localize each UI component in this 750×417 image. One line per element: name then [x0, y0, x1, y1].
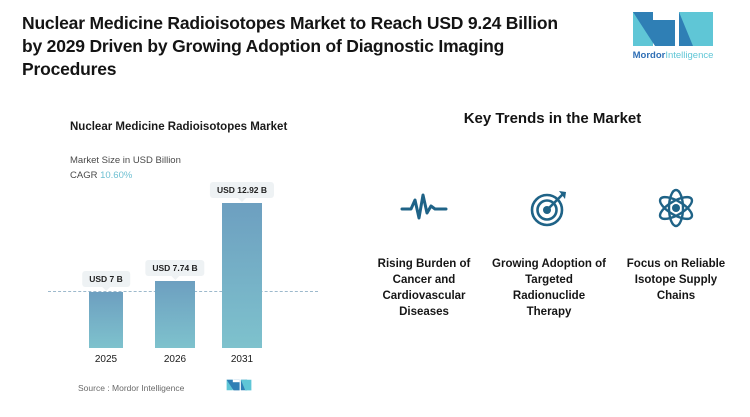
target-icon — [490, 182, 608, 234]
source-label: Source : — [78, 383, 110, 393]
brand-wordmark: MordorIntelligence — [623, 50, 723, 61]
key-trends-panel: Key Trends in the Market Rising Burden o… — [355, 92, 750, 417]
key-trends-heading: Key Trends in the Market — [355, 110, 750, 127]
header: Nuclear Medicine Radioisotopes Market to… — [0, 0, 750, 92]
brand-word-intelligence: Intelligence — [665, 50, 713, 61]
trend-item-1: Rising Burden of Cancer and Cardiovascul… — [365, 182, 483, 320]
trend-label-1: Rising Burden of Cancer and Cardiovascul… — [365, 256, 483, 320]
axis-label-2025: 2025 — [95, 354, 117, 365]
bar-label-2025: USD 7 B — [82, 271, 130, 287]
brand-word-mordor: Mordor — [633, 50, 666, 61]
trend-item-3: Focus on Reliable Isotope Supply Chains — [617, 182, 735, 304]
bar-2026 — [155, 281, 195, 348]
chart-panel: Nuclear Medicine Radioisotopes Market Ma… — [0, 92, 355, 417]
bar-2025 — [89, 292, 123, 348]
mordor-intelligence-logo-mark — [631, 10, 715, 48]
bar-label-2026: USD 7.74 B — [145, 260, 204, 276]
source-logo-mark — [226, 378, 252, 392]
page-title: Nuclear Medicine Radioisotopes Market to… — [22, 12, 582, 81]
bar-label-2031: USD 12.92 B — [210, 182, 274, 198]
trend-label-3: Focus on Reliable Isotope Supply Chains — [617, 256, 735, 304]
bar-chart-plot: USD 7 B 2025 USD 7.74 B 2026 USD 12.92 B… — [0, 92, 355, 362]
pulse-icon — [365, 182, 483, 234]
trend-item-2: Growing Adoption of Targeted Radionuclid… — [490, 182, 608, 320]
axis-label-2031: 2031 — [231, 354, 253, 365]
bar-2031 — [222, 203, 262, 348]
chart-source: Source : Mordor Intelligence — [78, 383, 184, 393]
atom-icon — [617, 182, 735, 234]
source-value: Mordor Intelligence — [112, 383, 184, 393]
trend-label-2: Growing Adoption of Targeted Radionuclid… — [490, 256, 608, 320]
axis-label-2026: 2026 — [164, 354, 186, 365]
brand-logo: MordorIntelligence — [623, 10, 723, 68]
